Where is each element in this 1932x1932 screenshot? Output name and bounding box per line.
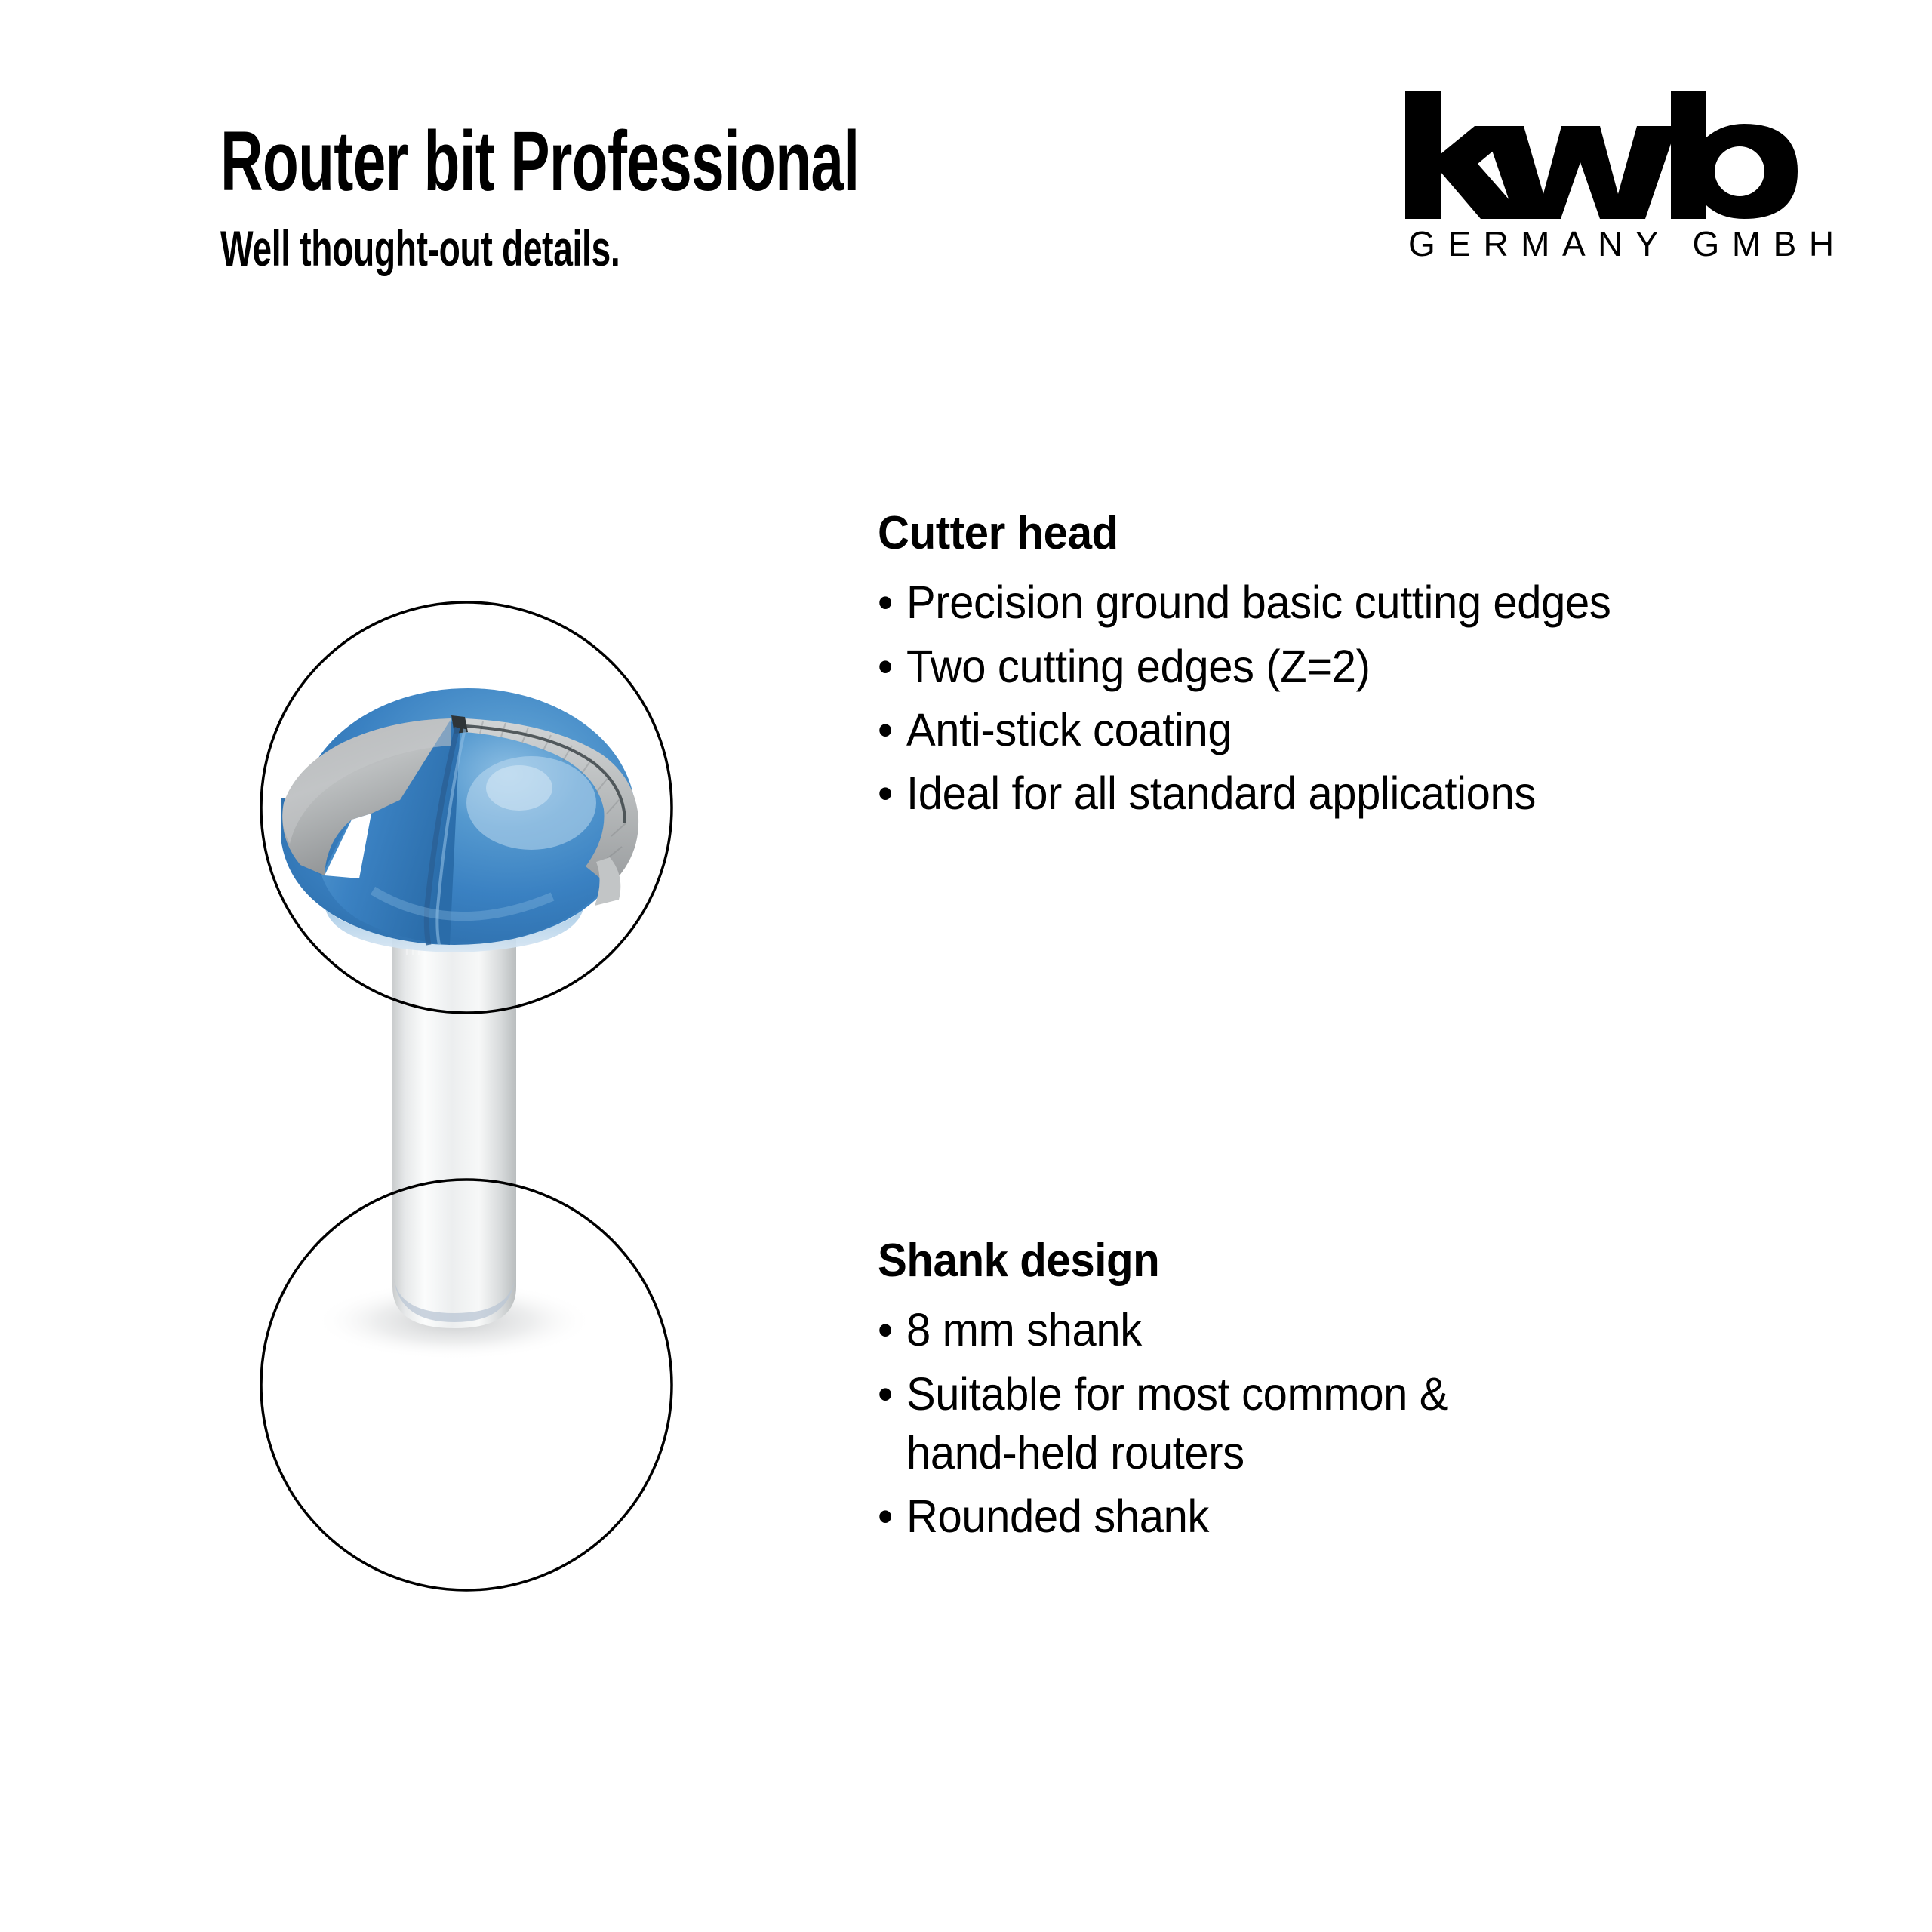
- list-item-label: Suitable for most common & hand-held rou…: [906, 1364, 1752, 1482]
- list-item-label: Ideal for all standard applications: [906, 764, 1752, 823]
- feature-block-cutter-head: Cutter head • Precision ground basic cut…: [878, 507, 1798, 827]
- feature-list-shank-design: • 8 mm shank • Suitable for most common …: [878, 1300, 1798, 1545]
- bullet-icon: •: [878, 700, 893, 759]
- list-item-label: Precision ground basic cutting edges: [906, 573, 1752, 632]
- list-item-label: Rounded shank: [906, 1487, 1752, 1546]
- feature-heading-cutter-head: Cutter head: [878, 507, 1743, 559]
- list-item: • Two cutting edges (Z=2): [878, 637, 1752, 696]
- list-item-label: Two cutting edges (Z=2): [906, 637, 1752, 696]
- list-item: • Ideal for all standard applications: [878, 764, 1752, 823]
- bullet-icon: •: [878, 764, 893, 823]
- kwb-wordmark-icon: [1405, 91, 1798, 219]
- list-item: • Rounded shank: [878, 1487, 1752, 1546]
- list-item: • 8 mm shank: [878, 1300, 1752, 1359]
- list-item: • Suitable for most common & hand-held r…: [878, 1364, 1752, 1482]
- product-infographic-page: Router bit Professional Well thought-out…: [0, 0, 1932, 1932]
- brand-tagline: GERMANY GMBH: [1408, 223, 1798, 264]
- list-item-label: Anti-stick coating: [906, 700, 1752, 759]
- feature-heading-shank-design: Shank design: [878, 1235, 1743, 1287]
- bullet-icon: •: [878, 1487, 893, 1546]
- bullet-icon: •: [878, 1364, 893, 1423]
- brand-logo: GERMANY GMBH: [1405, 91, 1798, 264]
- page-title: Router bit Professional: [220, 119, 960, 204]
- router-bit-illustration: [211, 483, 740, 1615]
- bullet-icon: •: [878, 573, 893, 632]
- product-image: [211, 483, 740, 1615]
- page-subtitle: Well thought-out details.: [220, 223, 960, 273]
- feature-list-cutter-head: • Precision ground basic cutting edges •…: [878, 573, 1798, 822]
- list-item-label: 8 mm shank: [906, 1300, 1752, 1359]
- bullet-icon: •: [878, 637, 893, 696]
- feature-block-shank-design: Shank design • 8 mm shank • Suitable for…: [878, 1235, 1798, 1550]
- list-item: • Anti-stick coating: [878, 700, 1752, 759]
- bullet-icon: •: [878, 1300, 893, 1359]
- list-item: • Precision ground basic cutting edges: [878, 573, 1752, 632]
- header-title-block: Router bit Professional Well thought-out…: [220, 119, 1277, 273]
- dome-gloss-core: [486, 765, 552, 811]
- shank-cylinder: [392, 936, 516, 1328]
- cutter-head: [281, 688, 638, 946]
